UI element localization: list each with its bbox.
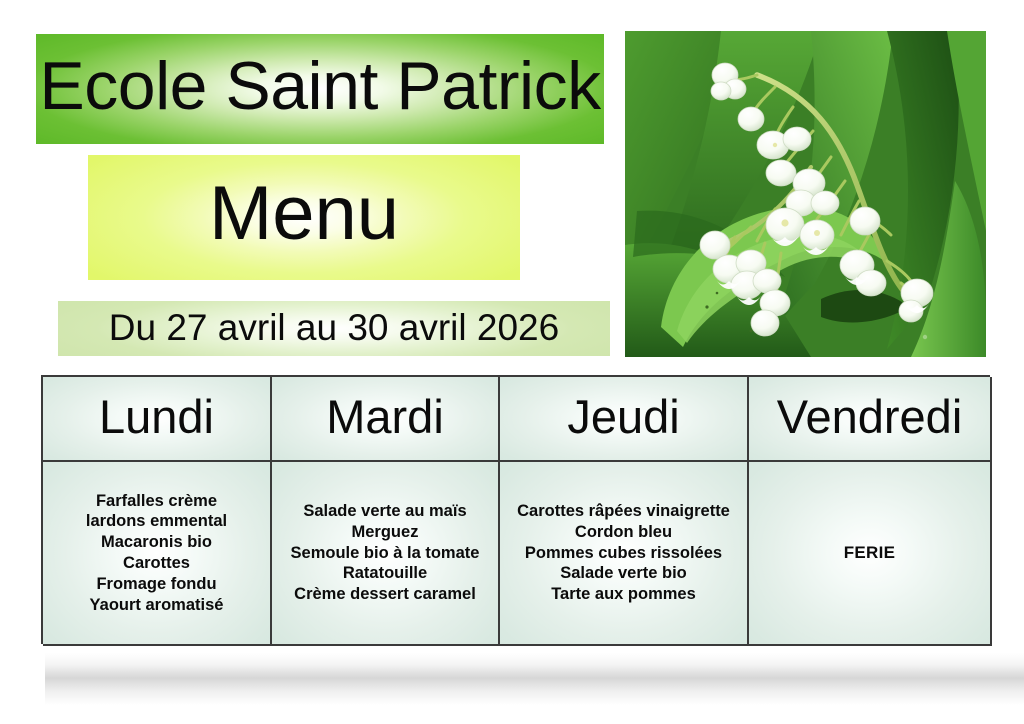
menu-item: Cordon bleu xyxy=(517,522,730,543)
school-title-banner: Ecole Saint Patrick xyxy=(36,34,604,144)
menu-item: Carottes râpées vinaigrette xyxy=(517,501,730,522)
table-header-jeudi: Jeudi xyxy=(500,377,749,462)
header-label: Vendredi xyxy=(777,393,963,444)
menu-table: Lundi Mardi Jeudi Vendredi Farfalles crè… xyxy=(41,375,990,644)
menu-item: Fromage fondu xyxy=(86,574,227,595)
menu-item: Salade verte bio xyxy=(517,563,730,584)
menu-item: Merguez xyxy=(291,522,480,543)
menu-title-banner: Menu xyxy=(88,155,520,280)
menu-cell-vendredi: FERIE xyxy=(749,462,992,646)
date-range-text: Du 27 avril au 30 avril 2026 xyxy=(109,309,559,349)
school-title-text: Ecole Saint Patrick xyxy=(39,52,600,126)
menu-item: Carottes xyxy=(86,553,227,574)
date-range-banner: Du 27 avril au 30 avril 2026 xyxy=(58,301,610,356)
menu-item: Farfalles crème xyxy=(86,491,227,512)
table-header-vendredi: Vendredi xyxy=(749,377,992,462)
menu-cell-jeudi: Carottes râpées vinaigrette Cordon bleu … xyxy=(500,462,749,646)
menu-item: Yaourt aromatisé xyxy=(86,595,227,616)
menu-item: Salade verte au maïs xyxy=(291,501,480,522)
menu-title-text: Menu xyxy=(209,176,399,260)
page-bottom-shadow xyxy=(45,653,1024,705)
menu-item: lardons emmental xyxy=(86,511,227,532)
header-label: Lundi xyxy=(99,393,214,444)
header-label: Jeudi xyxy=(567,393,679,444)
menu-item-list: Farfalles crème lardons emmental Macaron… xyxy=(86,491,227,616)
menu-cell-lundi: Farfalles crème lardons emmental Macaron… xyxy=(43,462,272,646)
lily-of-the-valley-photo xyxy=(625,31,986,357)
menu-item: Crème dessert caramel xyxy=(291,584,480,605)
menu-item: Macaronis bio xyxy=(86,532,227,553)
menu-cell-mardi: Salade verte au maïs Merguez Semoule bio… xyxy=(272,462,500,646)
menu-item-list: Carottes râpées vinaigrette Cordon bleu … xyxy=(517,501,730,605)
menu-item-list: FERIE xyxy=(844,542,896,563)
menu-item: Pommes cubes rissolées xyxy=(517,543,730,564)
table-header-mardi: Mardi xyxy=(272,377,500,462)
menu-item: FERIE xyxy=(844,542,896,563)
menu-item-list: Salade verte au maïs Merguez Semoule bio… xyxy=(291,501,480,605)
table-header-lundi: Lundi xyxy=(43,377,272,462)
header-label: Mardi xyxy=(326,393,444,444)
menu-item: Semoule bio à la tomate xyxy=(291,543,480,564)
menu-item: Ratatouille xyxy=(291,563,480,584)
menu-item: Tarte aux pommes xyxy=(517,584,730,605)
lily-of-the-valley-illustration xyxy=(625,31,986,357)
